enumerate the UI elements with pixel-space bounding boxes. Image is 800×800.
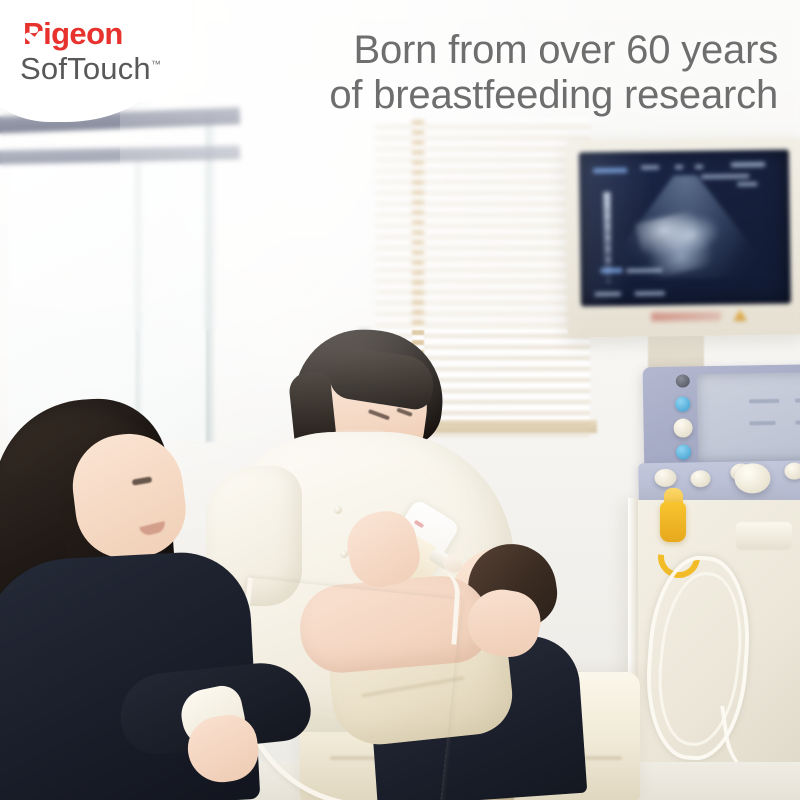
headline-line-2: of breastfeeding research <box>258 73 778 118</box>
glass-partition-post-secondary <box>136 160 142 430</box>
console-screen-row <box>795 420 800 425</box>
control-knob-1[interactable] <box>654 469 676 487</box>
ultrasound-footer-left <box>595 292 621 296</box>
blouse-button <box>334 506 342 514</box>
pigeon-softouch-banner: Pigeon SofTouch™ Born from over 60 years… <box>0 0 800 800</box>
ultrasound-param-3 <box>695 165 703 169</box>
brand-product-name: SofTouch™ <box>20 53 180 86</box>
ultrasound-screen <box>579 150 791 307</box>
ultrasound-measure-tag <box>600 268 622 273</box>
glass-partition-post <box>206 112 215 442</box>
gain-knob[interactable] <box>673 418 692 437</box>
cart-shelf <box>736 522 792 550</box>
control-knob-4[interactable] <box>784 462 800 479</box>
ultrasound-settings-row-2 <box>737 182 757 186</box>
headline-line-1: Born from over 60 years <box>354 28 778 72</box>
ultrasound-monitor <box>565 136 800 337</box>
control-knob-2[interactable] <box>690 470 710 487</box>
brand-logo: Pigeon SofTouch™ <box>20 18 180 86</box>
trademark-symbol: ™ <box>151 60 161 71</box>
ultrasound-param-1 <box>641 165 659 169</box>
monitor-mount <box>648 332 704 368</box>
glass-partition-panel <box>8 150 208 440</box>
freeze-button[interactable] <box>675 396 690 411</box>
ultrasound-footer-probe <box>635 291 665 295</box>
power-button[interactable] <box>676 374 690 387</box>
ultrasound-preset-label <box>593 168 627 173</box>
warning-triangle-icon <box>733 309 747 321</box>
heart-icon <box>28 29 41 42</box>
monitor-brand-mark <box>651 312 721 322</box>
brand-product-label: SofTouch <box>20 51 151 86</box>
console-screen-row <box>749 421 775 425</box>
console-panel <box>643 364 800 475</box>
page-title: Born from over 60 years of breastfeeding… <box>258 28 778 118</box>
mother-eye-left <box>368 409 390 420</box>
scene-photo <box>0 0 800 800</box>
console-screen-row <box>749 399 779 404</box>
console-screen <box>697 372 800 463</box>
measure-button[interactable] <box>676 444 691 459</box>
mother-eye-right <box>396 408 412 417</box>
ultrasound-institution <box>731 162 765 167</box>
ultrasound-measure-value <box>626 268 662 273</box>
ultrasound-param-2 <box>675 165 683 169</box>
console-screen-row <box>795 398 800 403</box>
ultrasound-settings-row <box>701 174 749 179</box>
